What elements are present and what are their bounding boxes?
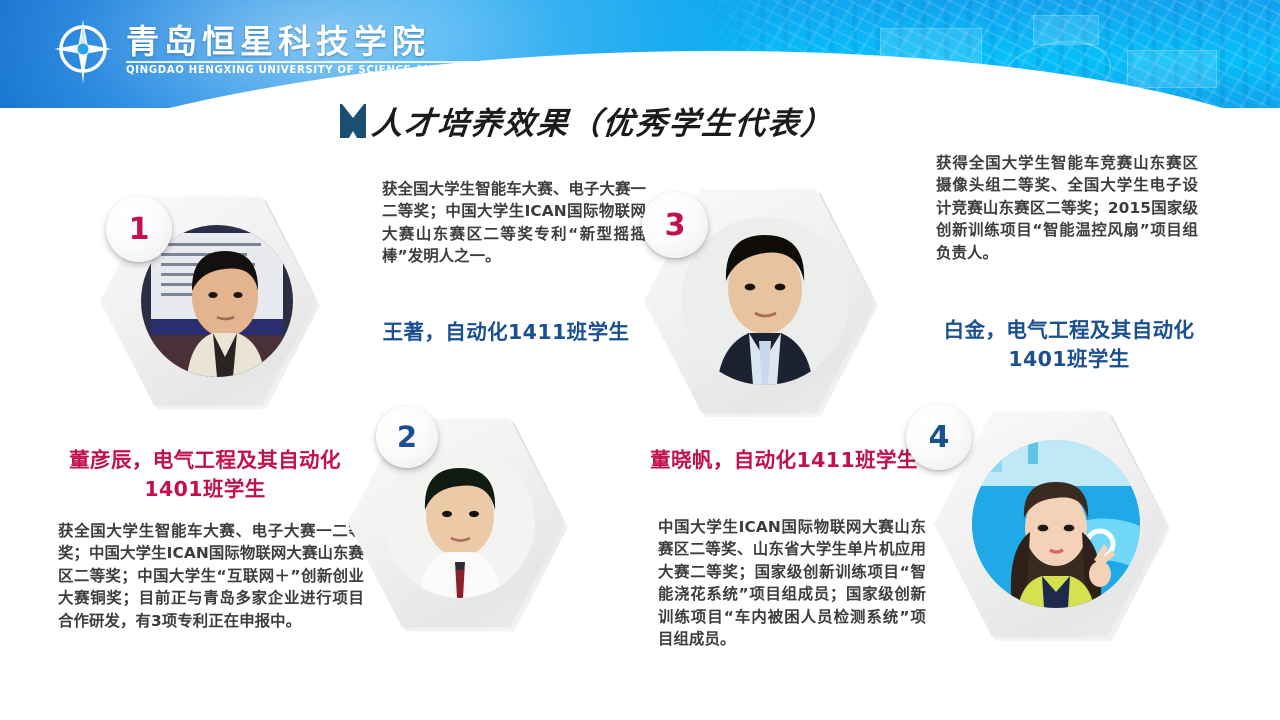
slide-root: 青岛恒星科技学院 QINGDAO HENGXING UNIVERSITY OF … (0, 0, 1280, 720)
student-name-4: 白金，电气工程及其自动化1401班学生 (928, 316, 1210, 374)
student-description-3: 中国大学生ICAN国际物联网大赛山东赛区二等奖、山东省大学生单片机应用大赛二等奖… (658, 516, 926, 651)
student-name-3: 董晓帆，自动化1411班学生 (650, 446, 918, 475)
student-number-badge-2: 2 (376, 406, 438, 468)
student-number-3: 3 (665, 208, 686, 243)
student-photo-3 (681, 217, 849, 385)
student-name-2: 王著，自动化1411班学生 (372, 318, 640, 347)
student-photo-2 (385, 448, 535, 598)
logo-divider (126, 61, 529, 63)
student-number-1: 1 (129, 212, 150, 247)
compass-emblem-icon (52, 18, 114, 84)
university-logo: 青岛恒星科技学院 QINGDAO HENGXING UNIVERSITY OF … (52, 18, 529, 84)
student-name-1: 董彦辰，电气工程及其自动化1401班学生 (50, 446, 360, 504)
student-number-2: 2 (397, 420, 417, 454)
page-title: 人才培养效果（优秀学生代表） (340, 98, 834, 143)
student-description-4: 获得全国大学生智能车竞赛山东赛区摄像头组二等奖、全国大学生电子设计竞赛山东赛区二… (936, 152, 1198, 264)
page-title-text: 人才培养效果（优秀学生代表） (370, 98, 836, 143)
logo-name-cn: 青岛恒星科技学院 (126, 25, 529, 58)
student-photo-4 (972, 440, 1140, 608)
student-description-2: 获全国大学生智能车大赛、电子大赛一二等奖；中国大学生ICAN国际物联网大赛山东赛… (382, 178, 646, 268)
logo-name-en: QINGDAO HENGXING UNIVERSITY OF SCIENCE A… (126, 66, 529, 76)
student-number-badge-1: 1 (106, 196, 172, 262)
chevron-bookmark-icon (340, 104, 366, 138)
student-description-1: 获全国大学生智能车大赛、电子大赛一二等奖；中国大学生ICAN国际物联网大赛山东赛… (58, 520, 364, 632)
student-number-badge-4: 4 (906, 404, 972, 470)
student-number-badge-3: 3 (642, 192, 708, 258)
student-number-4: 4 (929, 420, 950, 455)
